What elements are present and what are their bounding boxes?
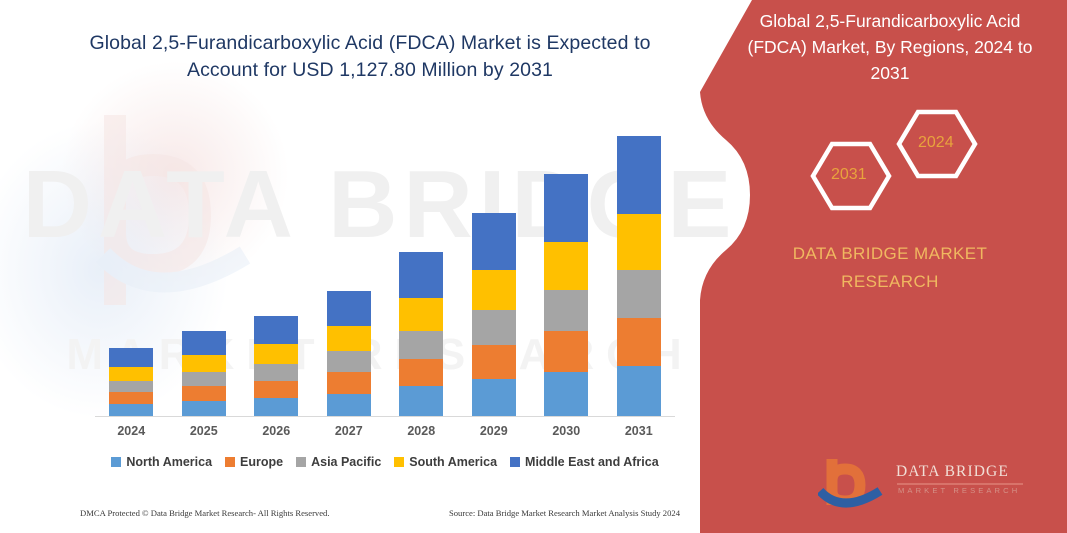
chart-page: DATA BRIDGE MARKET RESEARCH Global 2,5-F…	[0, 0, 1067, 533]
bar-segment-2031-europe	[617, 318, 661, 366]
bar-segment-2024-asia-pacific	[109, 381, 153, 393]
legend-swatch-south-america	[394, 457, 404, 467]
hexagon-group: 2024 2031	[770, 108, 1040, 213]
bar-segment-2026-asia-pacific	[254, 364, 298, 381]
footer: DMCA Protected © Data Bridge Market Rese…	[80, 508, 680, 518]
legend-label-europe: Europe	[240, 455, 283, 469]
legend-label-asia-pacific: Asia Pacific	[311, 455, 381, 469]
legend-item-middle-east-and-africa[interactable]: Middle East and Africa	[510, 455, 659, 469]
bar-2027	[327, 291, 371, 416]
legend-item-north-america[interactable]: North America	[111, 455, 212, 469]
bar-segment-2030-middle-east-and-africa	[544, 174, 588, 242]
bar-segment-2025-south-america	[182, 355, 226, 372]
bar-2029	[472, 213, 516, 416]
bar-segment-2027-north-america	[327, 394, 371, 416]
legend-label-south-america: South America	[409, 455, 497, 469]
footer-copyright: DMCA Protected © Data Bridge Market Rese…	[80, 508, 330, 518]
footer-source: Source: Data Bridge Market Research Mark…	[449, 508, 680, 518]
chart-title: Global 2,5-Furandicarboxylic Acid (FDCA)…	[60, 30, 680, 84]
bar-segment-2029-north-america	[472, 379, 516, 416]
legend-swatch-europe	[225, 457, 235, 467]
chart-legend: North AmericaEuropeAsia PacificSouth Ame…	[95, 455, 675, 469]
x-axis-label-2024: 2024	[101, 424, 161, 438]
brand-panel: Global 2,5-Furandicarboxylic Acid (FDCA)…	[700, 0, 1067, 533]
bar-segment-2028-south-america	[399, 298, 443, 331]
x-axis-label-2027: 2027	[319, 424, 379, 438]
x-axis-labels: 20242025202620272028202920302031	[95, 424, 675, 444]
bar-segment-2027-south-america	[327, 326, 371, 351]
legend-label-north-america: North America	[126, 455, 212, 469]
bar-segment-2024-middle-east-and-africa	[109, 348, 153, 367]
brand-logo-icon	[818, 455, 888, 513]
x-axis-label-2026: 2026	[246, 424, 306, 438]
bar-segment-2030-south-america	[544, 242, 588, 290]
legend-item-europe[interactable]: Europe	[225, 455, 283, 469]
bar-segment-2025-asia-pacific	[182, 372, 226, 386]
brand-name: DATA BRIDGE MARKET RESEARCH	[740, 240, 1040, 296]
legend-label-middle-east-and-africa: Middle East and Africa	[525, 455, 659, 469]
hexagon-shapes-icon	[770, 108, 1040, 213]
x-axis-label-2031: 2031	[609, 424, 669, 438]
bar-segment-2028-asia-pacific	[399, 331, 443, 359]
bar-segment-2030-europe	[544, 331, 588, 372]
brand-logo-subtitle: MARKET RESEARCH	[898, 486, 1020, 495]
bar-2030	[544, 174, 588, 416]
bar-2025	[182, 331, 226, 416]
chart-panel: DATA BRIDGE MARKET RESEARCH Global 2,5-F…	[0, 0, 760, 533]
bar-segment-2029-europe	[472, 345, 516, 380]
hexagon-2024-label: 2024	[918, 134, 954, 152]
x-axis-label-2028: 2028	[391, 424, 451, 438]
bar-segment-2031-south-america	[617, 214, 661, 270]
bar-segment-2028-europe	[399, 359, 443, 387]
bar-segment-2029-middle-east-and-africa	[472, 213, 516, 270]
bar-segment-2029-south-america	[472, 270, 516, 311]
brand-panel-title: Global 2,5-Furandicarboxylic Acid (FDCA)…	[740, 8, 1040, 86]
bar-segment-2031-middle-east-and-africa	[617, 136, 661, 214]
legend-item-asia-pacific[interactable]: Asia Pacific	[296, 455, 381, 469]
bar-segment-2027-europe	[327, 372, 371, 393]
legend-swatch-north-america	[111, 457, 121, 467]
legend-swatch-asia-pacific	[296, 457, 306, 467]
bar-2028	[399, 252, 443, 416]
bar-segment-2025-middle-east-and-africa	[182, 331, 226, 355]
bar-segment-2026-europe	[254, 381, 298, 398]
brand-name-line-2: RESEARCH	[740, 268, 1040, 296]
axis-baseline	[95, 416, 675, 417]
bar-segment-2024-north-america	[109, 404, 153, 416]
x-axis-label-2029: 2029	[464, 424, 524, 438]
bar-segment-2031-asia-pacific	[617, 270, 661, 318]
bar-2031	[617, 136, 661, 416]
brand-name-line-1: DATA BRIDGE MARKET	[740, 240, 1040, 268]
bar-segment-2027-middle-east-and-africa	[327, 291, 371, 326]
bar-segment-2025-europe	[182, 386, 226, 400]
bar-segment-2026-middle-east-and-africa	[254, 316, 298, 344]
bar-segment-2026-north-america	[254, 398, 298, 416]
bar-segment-2028-middle-east-and-africa	[399, 252, 443, 298]
plot-area	[95, 120, 675, 417]
bar-2026	[254, 316, 298, 416]
bar-segment-2024-south-america	[109, 367, 153, 381]
bar-2024	[109, 348, 153, 416]
bar-segment-2031-north-america	[617, 366, 661, 416]
bar-segment-2030-north-america	[544, 372, 588, 416]
brand-logo: DATA BRIDGE MARKET RESEARCH	[818, 455, 1033, 515]
legend-item-south-america[interactable]: South America	[394, 455, 497, 469]
brand-logo-name: DATA BRIDGE	[896, 463, 1009, 481]
legend-swatch-middle-east-and-africa	[510, 457, 520, 467]
x-axis-label-2030: 2030	[536, 424, 596, 438]
bar-segment-2026-south-america	[254, 344, 298, 364]
bar-segment-2029-asia-pacific	[472, 310, 516, 345]
bar-segment-2027-asia-pacific	[327, 351, 371, 372]
brand-logo-divider	[897, 483, 1023, 485]
bar-segment-2028-north-america	[399, 386, 443, 416]
hexagon-2031-label: 2031	[831, 166, 867, 184]
bar-segment-2025-north-america	[182, 401, 226, 416]
bar-segment-2024-europe	[109, 392, 153, 404]
x-axis-label-2025: 2025	[174, 424, 234, 438]
bar-segment-2030-asia-pacific	[544, 290, 588, 331]
